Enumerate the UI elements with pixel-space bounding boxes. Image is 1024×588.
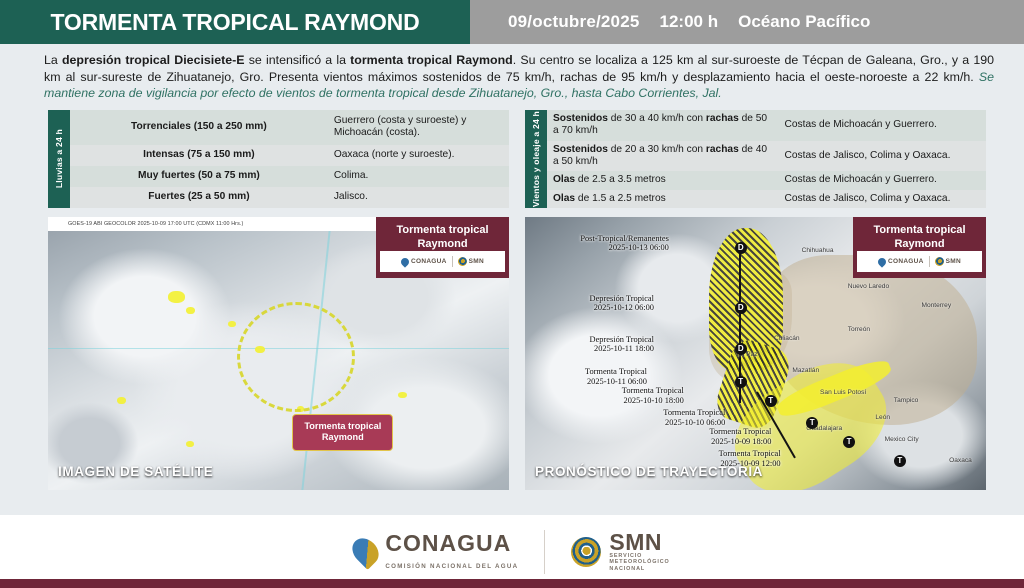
intro-text-a: La xyxy=(44,53,62,67)
intro-storm-name: tormenta tropical Raymond xyxy=(350,53,513,67)
storm-label-badge: Tormenta tropical Raymond xyxy=(292,414,393,451)
track-datetime: 2025-10-13 06:00 xyxy=(580,243,669,253)
wind-desc: Sostenidos de 20 a 30 km/h con rachas de… xyxy=(547,141,779,172)
wind-lead: Olas xyxy=(553,174,575,185)
wind-rest: de 20 a 30 km/h con xyxy=(608,144,706,155)
satellite-panel[interactable]: Tormenta tropical Raymond GOES-19 ABI GE… xyxy=(48,217,509,490)
logo-divider xyxy=(452,256,453,267)
bulletin-basin: Océano Pacífico xyxy=(738,12,870,32)
conagua-logo-text: CONAGUA xyxy=(411,255,447,269)
rain-level: Torrenciales (150 a 250 mm) xyxy=(70,110,328,145)
track-datetime: 2025-10-12 06:00 xyxy=(590,303,654,313)
storm-circle-overlay xyxy=(237,302,355,412)
wind-rest: de 30 a 40 km/h con xyxy=(608,113,706,124)
wind-table-grid: Sostenidos de 30 a 40 km/h con rachas de… xyxy=(547,110,986,208)
track-point-7[interactable]: T xyxy=(894,455,906,467)
city-label: Torreón xyxy=(848,326,870,333)
rain-table: Lluvias a 24 h Torrenciales (150 a 250 m… xyxy=(48,110,509,208)
track-stage: Tormenta Tropical xyxy=(585,367,647,377)
rain-areas: Oaxaca (norte y suroeste). xyxy=(328,145,509,166)
page-header: TORMENTA TROPICAL RAYMOND 09/octubre/202… xyxy=(0,0,1024,44)
badge-name: Raymond xyxy=(857,238,982,252)
track-stage: Tormenta Tropical xyxy=(663,408,725,418)
forecast-caption: PRONÓSTICO DE TRAYECTORIA xyxy=(535,464,763,479)
wind-side-text: Vientos y oleaje a 24 h xyxy=(531,111,541,207)
footer-divider xyxy=(544,530,545,574)
summary-paragraph: La depresión tropical Diecisiete-E se in… xyxy=(0,44,1024,106)
bulletin-date: 09/octubre/2025 xyxy=(508,12,640,32)
table-row: Sostenidos de 20 a 30 km/h con rachas de… xyxy=(547,141,986,172)
rain-areas: Colima. xyxy=(328,166,509,187)
logo-divider xyxy=(929,256,930,267)
conagua-logo-textblock: CONAGUA COMISIÓN NACIONAL DEL AGUA xyxy=(385,531,518,573)
track-label-4: Tormenta Tropical 2025-10-10 18:00 xyxy=(622,386,684,405)
badge-name: Raymond xyxy=(380,238,505,252)
track-point-3[interactable]: T xyxy=(735,376,747,388)
wind-areas: Costas de Michoacán y Guerrero. xyxy=(779,171,987,189)
storm-label-line1: Tormenta tropical xyxy=(304,421,381,433)
track-datetime: 2025-10-10 18:00 xyxy=(622,396,684,406)
rain-level: Intensas (75 a 150 mm) xyxy=(70,145,328,166)
city-label: Mexico City xyxy=(885,436,919,443)
track-label-6: Tormenta Tropical 2025-10-09 18:00 xyxy=(709,427,771,446)
page-title: TORMENTA TROPICAL RAYMOND xyxy=(0,0,470,44)
intro-text-c: se intensificó a la xyxy=(245,53,351,67)
table-row: Sostenidos de 30 a 40 km/h con rachas de… xyxy=(547,110,986,141)
wind-lead: Sostenidos xyxy=(553,144,608,155)
wind-lead2: rachas xyxy=(706,144,739,155)
city-label: Mazatlán xyxy=(792,367,819,374)
track-point-6[interactable]: T xyxy=(843,436,855,448)
conagua-tagline: COMISIÓN NACIONAL DEL AGUA xyxy=(385,563,518,570)
spiral-icon xyxy=(571,537,601,567)
forecast-storm-badge: Tormenta tropical Raymond CONAGUA SMN xyxy=(853,217,986,278)
track-point-0[interactable]: D xyxy=(735,242,747,254)
image-panels: Tormenta tropical Raymond GOES-19 ABI GE… xyxy=(0,208,1024,490)
wind-areas: Costas de Jalisco, Colima y Oaxaca. xyxy=(779,190,987,208)
water-drop-icon xyxy=(347,533,384,570)
badge-logos: CONAGUA SMN xyxy=(857,251,982,272)
wind-desc: Olas de 1.5 a 2.5 metros xyxy=(547,190,779,208)
wind-lead2: rachas xyxy=(706,113,739,124)
track-label-0: Post-Tropical/Remanentes 2025-10-13 06:0… xyxy=(580,234,669,253)
water-drop-icon xyxy=(876,256,887,267)
city-label: Tampico xyxy=(894,397,919,404)
wind-table: Vientos y oleaje a 24 h Sostenidos de 30… xyxy=(525,110,986,208)
conagua-logo-small: CONAGUA xyxy=(401,255,447,269)
conagua-logo-text: CONAGUA xyxy=(888,255,924,269)
wind-rest: de 2.5 a 3.5 metros xyxy=(575,174,666,185)
satellite-source-meta: GOES-19 ABI GEOCOLOR 2025-10-09 17:00 UT… xyxy=(54,221,243,227)
forecast-tables: Lluvias a 24 h Torrenciales (150 a 250 m… xyxy=(0,106,1024,208)
forecast-track-panel[interactable]: D D D T T T T T Post-Tropical/Remanentes… xyxy=(525,217,986,490)
track-datetime: 2025-10-09 18:00 xyxy=(709,437,771,447)
track-stage: Tormenta Tropical xyxy=(622,386,684,396)
track-stage: Post-Tropical/Remanentes xyxy=(580,234,669,244)
track-point-4[interactable]: T xyxy=(765,395,777,407)
rain-marker xyxy=(168,291,185,303)
city-label: León xyxy=(875,414,890,421)
track-point-5[interactable]: T xyxy=(806,417,818,429)
rain-table-side-label: Lluvias a 24 h xyxy=(48,110,70,208)
spiral-icon xyxy=(458,257,467,266)
rain-marker xyxy=(228,321,236,327)
conagua-logo: CONAGUA COMISIÓN NACIONAL DEL AGUA xyxy=(354,531,518,573)
smn-tagline-2: METEOROLÓGICO xyxy=(609,559,669,565)
table-row: Muy fuertes (50 a 75 mm) Colima. xyxy=(70,166,509,187)
track-stage: Depresión Tropical xyxy=(590,335,654,345)
page-footer: CONAGUA COMISIÓN NACIONAL DEL AGUA SMN S… xyxy=(0,515,1024,588)
rain-areas: Jalisco. xyxy=(328,187,509,208)
intro-depression-name: depresión tropical Diecisiete-E xyxy=(62,53,245,67)
rain-table-grid: Torrenciales (150 a 250 mm) Guerrero (co… xyxy=(70,110,509,208)
smn-logo-small: SMN xyxy=(458,255,484,269)
track-label-5: Tormenta Tropical 2025-10-10 06:00 xyxy=(663,408,725,427)
rain-marker xyxy=(398,392,407,398)
wind-table-side-label: Vientos y oleaje a 24 h xyxy=(525,110,547,208)
satellite-storm-badge: Tormenta tropical Raymond CONAGUA SMN xyxy=(376,217,509,278)
smn-logo-text: SMN xyxy=(946,255,961,269)
smn-tagline-3: NACIONAL xyxy=(609,566,669,572)
conagua-name: CONAGUA xyxy=(385,531,518,555)
rain-side-text: Lluvias a 24 h xyxy=(54,129,64,188)
conagua-logo-small: CONAGUA xyxy=(878,255,924,269)
city-label: Oaxaca xyxy=(949,457,972,464)
satellite-caption: IMAGEN DE SATÉLITE xyxy=(58,464,213,479)
water-drop-icon xyxy=(399,256,410,267)
track-stage: Tormenta Tropical xyxy=(709,427,771,437)
storm-label-line2: Raymond xyxy=(304,432,381,444)
wind-areas: Costas de Jalisco, Colima y Oaxaca. xyxy=(779,141,987,172)
city-label: Chihuahua xyxy=(802,247,834,254)
city-label: Culiacán xyxy=(774,335,800,342)
track-label-3: Tormenta Tropical 2025-10-11 06:00 xyxy=(585,367,647,386)
table-row: Torrenciales (150 a 250 mm) Guerrero (co… xyxy=(70,110,509,145)
rain-areas: Guerrero (costa y suroeste) y Michoacán … xyxy=(328,110,509,145)
city-label: San Luis Potosí xyxy=(820,389,866,396)
badge-title: Tormenta tropical xyxy=(380,224,505,238)
track-label-1: Depresión Tropical 2025-10-12 06:00 xyxy=(590,294,654,313)
footer-accent-bar xyxy=(0,579,1024,588)
rain-level: Muy fuertes (50 a 75 mm) xyxy=(70,166,328,187)
bulletin-time: 12:00 h xyxy=(660,12,719,32)
spiral-icon xyxy=(935,257,944,266)
table-row: Fuertes (25 a 50 mm) Jalisco. xyxy=(70,187,509,208)
table-row: Intensas (75 a 150 mm) Oaxaca (norte y s… xyxy=(70,145,509,166)
table-row: Olas de 1.5 a 2.5 metros Costas de Jalis… xyxy=(547,190,986,208)
wind-desc: Olas de 2.5 a 3.5 metros xyxy=(547,171,779,189)
wind-lead: Sostenidos xyxy=(553,113,608,124)
smn-logo: SMN SERVICIO METEOROLÓGICO NACIONAL xyxy=(571,531,669,572)
track-label-2: Depresión Tropical 2025-10-11 18:00 xyxy=(590,335,654,354)
track-stage: Depresión Tropical xyxy=(590,294,654,304)
badge-logos: CONAGUA SMN xyxy=(380,251,505,272)
smn-logo-text: SMN xyxy=(469,255,484,269)
smn-logo-textblock: SMN SERVICIO METEOROLÓGICO NACIONAL xyxy=(609,531,669,572)
smn-name: SMN xyxy=(609,531,669,553)
badge-title: Tormenta tropical xyxy=(857,224,982,238)
smn-logo-small: SMN xyxy=(935,255,961,269)
header-meta: 09/octubre/2025 12:00 h Océano Pacífico xyxy=(470,0,1024,44)
track-point-1[interactable]: D xyxy=(735,302,747,314)
wind-areas: Costas de Michoacán y Guerrero. xyxy=(779,110,987,141)
table-row: Olas de 2.5 a 3.5 metros Costas de Micho… xyxy=(547,171,986,189)
wind-lead: Olas xyxy=(553,193,575,204)
track-stage: Tormenta Tropical xyxy=(719,449,781,459)
rain-level: Fuertes (25 a 50 mm) xyxy=(70,187,328,208)
track-datetime: 2025-10-11 18:00 xyxy=(590,344,654,354)
city-label: Monterrey xyxy=(921,302,951,309)
wind-rest: de 1.5 a 2.5 metros xyxy=(575,193,666,204)
track-point-2[interactable]: D xyxy=(735,343,747,355)
bulletin-page: TORMENTA TROPICAL RAYMOND 09/octubre/202… xyxy=(0,0,1024,588)
wind-desc: Sostenidos de 30 a 40 km/h con rachas de… xyxy=(547,110,779,141)
city-label: Nuevo Laredo xyxy=(848,283,889,290)
